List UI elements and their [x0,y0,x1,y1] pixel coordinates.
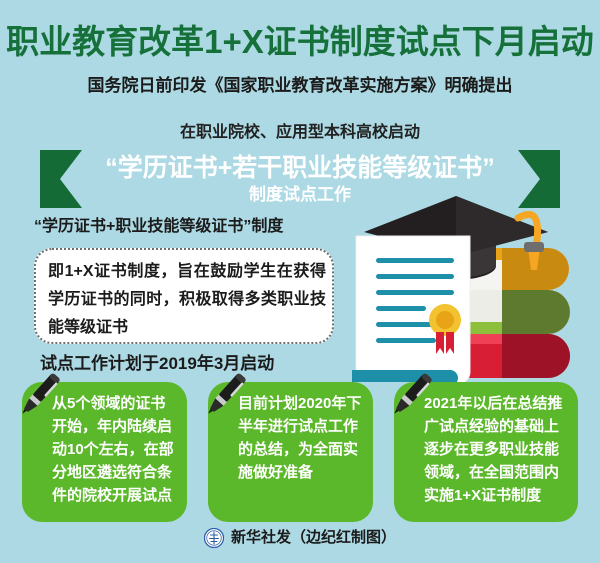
graduation-cap-certificate-books-illustration [352,196,600,382]
ribbon-lead-text: 在职业院校、应用型本科高校启动 [0,122,600,144]
footer-credit: 新华社发（边纪红制图） [231,528,396,548]
ribbon-headline: “学历证书+若干职业技能等级证书” [0,152,600,184]
infographic-root: 职业教育改革1+X证书制度试点下月启动 国务院日前印发《国家职业教育改革实施方案… [0,0,600,563]
definition-body: 即1+X证书制度，旨在鼓励学生在获得学历证书的同时，积极取得多类职业技能等级证书 [48,258,326,342]
definition-heading: “学历证书+职业技能等级证书”制度 [34,216,283,238]
plan-card-2-text: 目前计划2020年下半年进行试点工作的总结，为全面实施做好准备 [238,392,366,484]
plan-card-1-text: 从5个领域的证书开始，年内陆续启动10个左右，在部分地区遴选符合条件的院校开展试… [52,392,180,507]
page-title: 职业教育改革1+X证书制度试点下月启动 [0,22,600,62]
xinhua-logo-icon [204,528,224,548]
page-subtitle: 国务院日前印发《国家职业教育改革实施方案》明确提出 [0,74,600,98]
footer: 新华社发（边纪红制图） [0,528,600,548]
certificate-icon [352,236,470,382]
plan-card-3-text: 2021年以后在总结推广试点经验的基础上逐步在更多职业技能领域，在全国范围内实施… [424,392,570,507]
